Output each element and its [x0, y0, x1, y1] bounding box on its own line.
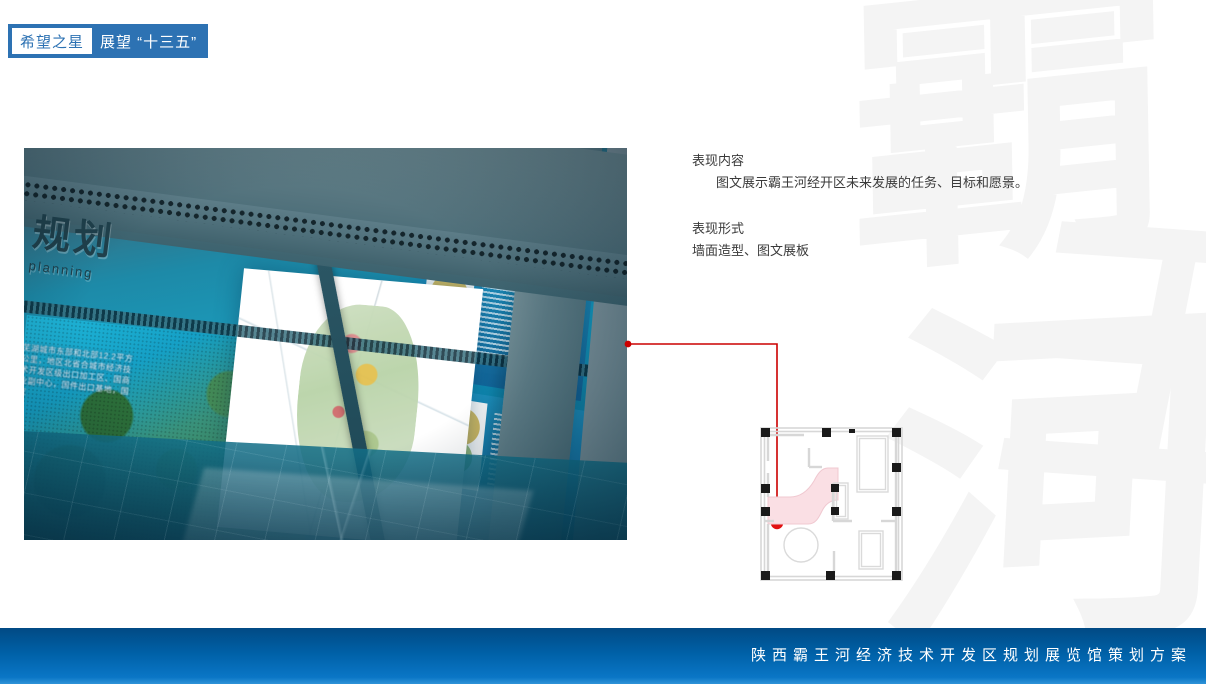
plan-circular-feature [784, 528, 818, 562]
body-form: 墙面造型、图文展板 [692, 240, 1172, 262]
handle-top-small [849, 429, 855, 433]
handle-mid-left-lower [761, 507, 770, 516]
render-vignette [24, 148, 627, 540]
heading-content: 表现内容 [692, 150, 1172, 172]
handle-bottom-center [826, 571, 835, 580]
zone-highlight-region [768, 468, 838, 524]
handle-inner-upper [831, 484, 839, 492]
handle-bottom-right [892, 571, 901, 580]
heading-form: 表现形式 [692, 218, 1172, 240]
leader-polyline [629, 344, 777, 523]
watermark-char-he: 河 [871, 290, 1206, 670]
handle-mid-left-upper [761, 484, 770, 493]
handle-top-center [822, 428, 831, 437]
footer-bar: 陕西霸王河经济技术开发区规划展览馆策划方案 [0, 628, 1206, 684]
spacer [692, 194, 1172, 218]
tab-xiwangzhixing[interactable]: 希望之星 [12, 28, 92, 54]
footer-title: 陕西霸王河经济技术开发区规划展览馆策划方案 [751, 644, 1192, 665]
handle-inner-lower [831, 507, 839, 515]
description-block: 表现内容 图文展示霸王河经开区未来发展的任务、目标和愿景。 表现形式 墙面造型、… [692, 150, 1172, 262]
handle-mid-right-lower [892, 507, 901, 516]
tab-zhanwang-shisanwu[interactable]: 展望 “十三五” [92, 24, 208, 58]
tab-bar: 希望之星 展望 “十三五” [8, 24, 208, 58]
body-content: 图文展示霸王河经开区未来发展的任务、目标和愿景。 [692, 172, 1172, 194]
handle-top-right [892, 428, 901, 437]
plan-room-boxes [834, 436, 888, 569]
exhibition-hall-render-image: 芜湖城市东部和北部12.2平方公里，地区北省合城市经济技术开发区级出口加工区、国… [24, 148, 627, 540]
exhibition-hall-floor-plan[interactable] [756, 421, 909, 589]
handle-mid-right-upper [892, 463, 901, 472]
leader-start-dot [625, 341, 632, 348]
handle-top-left [761, 428, 770, 437]
handle-bottom-left [761, 571, 770, 580]
